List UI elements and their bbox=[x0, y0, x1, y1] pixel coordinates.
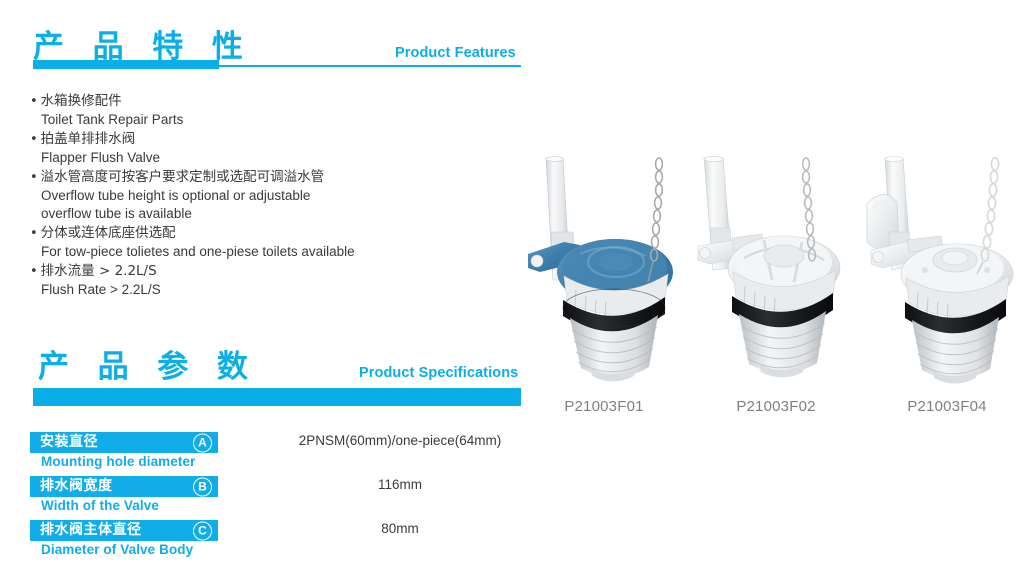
bullet-icon: • bbox=[30, 226, 38, 241]
specifications-table: 安装直径 A Mounting hole diameter 2PNSM(60mm… bbox=[30, 432, 530, 564]
spec-label-en: Diameter of Valve Body bbox=[30, 541, 530, 557]
bullet-icon: • bbox=[30, 264, 38, 279]
feature-en: Flush Rate > 2.2L/S bbox=[30, 281, 500, 299]
feature-en: For tow-piece tolietes and one-piese toi… bbox=[30, 243, 500, 261]
specifications-section-header: 产 品 参 数 Product Specifications bbox=[38, 350, 528, 390]
product-image-p21003f02: P21003F02 bbox=[692, 150, 860, 395]
spec-badge-b: B bbox=[193, 477, 212, 496]
feature-cn: •排水流量 > 2.2L/S bbox=[30, 262, 500, 281]
feature-en: Flapper Flush Valve bbox=[30, 149, 500, 167]
product-model-label: P21003F01 bbox=[520, 398, 688, 415]
feature-cn: •分体或连体底座供选配 bbox=[30, 224, 500, 243]
bullet-icon: • bbox=[30, 94, 38, 109]
features-title-cn: 产 品 特 性 bbox=[33, 30, 253, 64]
spec-badge-a: A bbox=[193, 433, 212, 452]
feature-item: •溢水管高度可按客户要求定制或选配可调溢水管 Overflow tube hei… bbox=[30, 168, 500, 223]
product-image-p21003f04: P21003F04 bbox=[863, 150, 1031, 395]
spec-row: 排水阀主体直径 C Diameter of Valve Body 80mm bbox=[30, 520, 530, 564]
spec-row-bar: 排水阀主体直径 C bbox=[30, 520, 218, 541]
feature-cn: •拍盖单排排水阀 bbox=[30, 130, 500, 149]
feature-en: Toilet Tank Repair Parts bbox=[30, 111, 500, 129]
spec-label-en: Width of the Valve bbox=[30, 497, 530, 513]
chain bbox=[651, 158, 663, 261]
spec-badge-c: C bbox=[193, 521, 212, 540]
chain bbox=[981, 158, 998, 261]
product-catalog-page: 产 品 特 性 Product Features •水箱换修配件 Toilet … bbox=[0, 0, 1031, 575]
flush-valve-illustration-white-cap bbox=[863, 150, 1031, 395]
spec-label-cn: 安装直径 bbox=[30, 432, 98, 453]
feature-item: •拍盖单排排水阀 Flapper Flush Valve bbox=[30, 130, 500, 167]
spec-row-bar: 排水阀宽度 B bbox=[30, 476, 218, 497]
spec-label-cn: 排水阀主体直径 bbox=[30, 520, 142, 541]
feature-item: •分体或连体底座供选配 For tow-piece tolietes and o… bbox=[30, 224, 500, 261]
spec-label-cn: 排水阀宽度 bbox=[30, 476, 113, 497]
bullet-icon: • bbox=[30, 132, 38, 147]
spec-label-en: Mounting hole diameter bbox=[30, 453, 530, 469]
feature-item: •排水流量 > 2.2L/S Flush Rate > 2.2L/S bbox=[30, 262, 500, 299]
spec-row: 安装直径 A Mounting hole diameter 2PNSM(60mm… bbox=[30, 432, 530, 476]
feature-item: •水箱换修配件 Toilet Tank Repair Parts bbox=[30, 92, 500, 129]
product-gallery: P21003F01 bbox=[520, 150, 1031, 420]
feature-cn: •水箱换修配件 bbox=[30, 92, 500, 111]
flush-valve-illustration-white bbox=[692, 150, 860, 395]
spec-value: 116mm bbox=[230, 477, 570, 492]
feature-list: •水箱换修配件 Toilet Tank Repair Parts •拍盖单排排水… bbox=[30, 92, 500, 300]
feature-en: overflow tube is available bbox=[30, 205, 500, 223]
features-header-bar-thick bbox=[33, 60, 219, 69]
feature-en: Overflow tube height is optional or adju… bbox=[30, 187, 500, 205]
specifications-title-en: Product Specifications bbox=[359, 365, 518, 381]
spec-row: 排水阀宽度 B Width of the Valve 116mm bbox=[30, 476, 530, 520]
product-image-p21003f01: P21003F01 bbox=[520, 150, 688, 395]
features-title-en: Product Features bbox=[395, 45, 516, 61]
flush-valve-illustration-blue bbox=[520, 150, 688, 395]
product-model-label: P21003F04 bbox=[863, 398, 1031, 415]
specifications-header-bar bbox=[33, 388, 521, 406]
product-model-label: P21003F02 bbox=[692, 398, 860, 415]
spec-row-bar: 安装直径 A bbox=[30, 432, 218, 453]
spec-value: 2PNSM(60mm)/one-piece(64mm) bbox=[230, 433, 570, 448]
bullet-icon: • bbox=[30, 170, 38, 185]
features-header-bar-thin bbox=[219, 65, 521, 67]
feature-cn: •溢水管高度可按客户要求定制或选配可调溢水管 bbox=[30, 168, 500, 187]
specifications-title-cn: 产 品 参 数 bbox=[38, 350, 258, 384]
spec-value: 80mm bbox=[230, 521, 570, 536]
